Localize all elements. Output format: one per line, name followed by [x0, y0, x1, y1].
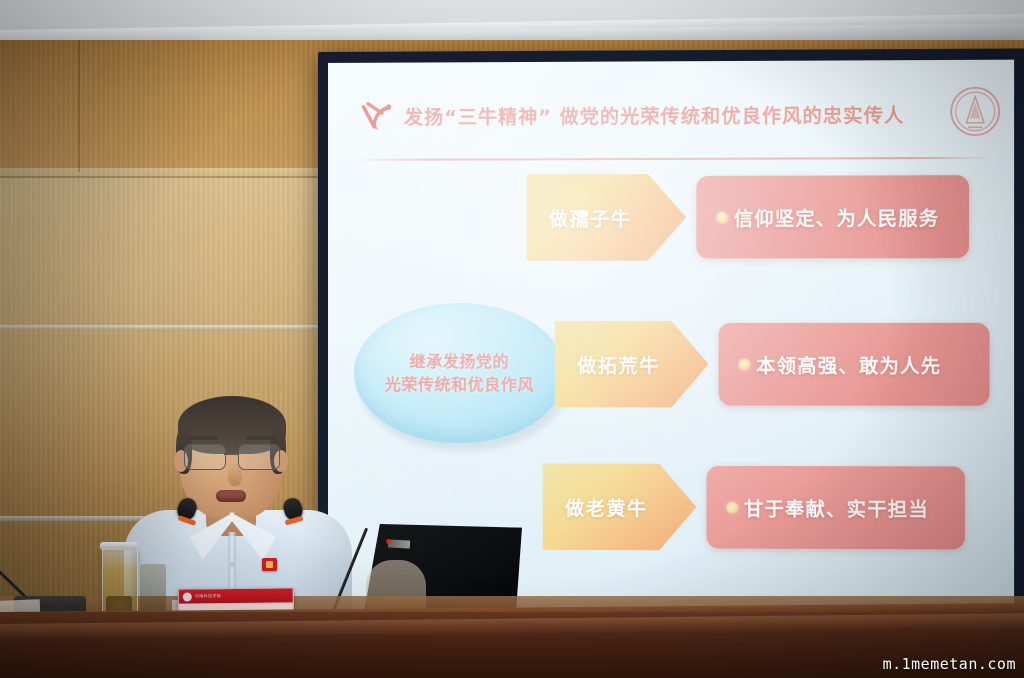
- content-text-3: 甘于奉献、实干担当: [744, 494, 929, 522]
- bullet-dot-icon: [727, 502, 738, 513]
- nameplate-org: 河南科技学院: [195, 593, 221, 599]
- watermark: m.1memetan.com: [883, 655, 1016, 673]
- content-bar-2: 本领高强、敢为人先: [719, 323, 990, 406]
- eyeglass-bridge: [224, 453, 238, 455]
- content-text-1: 信仰坚定、为人民服务: [734, 203, 940, 231]
- photo-scene: 发扬“三牛精神” 做党的光荣传统和优良作风的忠实传人 继承发扬党的 光荣传统和优…: [0, 0, 1024, 678]
- central-concept-ellipse: 继承发扬党的 光荣传统和优良作风: [354, 303, 565, 444]
- arrow-chevron-2: 做拓荒牛: [555, 321, 709, 408]
- content-bar-3: 甘于奉献、实干担当: [706, 466, 965, 549]
- content-bar-1: 信仰坚定、为人民服务: [696, 175, 969, 258]
- slide-row-3: 做老黄牛 甘于奉献、实干担当: [543, 463, 965, 551]
- slide-row-2: 做拓荒牛 本领高强、敢为人先: [555, 321, 990, 408]
- arrow-label-1: 做孺子牛: [549, 204, 632, 231]
- speaker-eyebrow: [188, 436, 218, 440]
- cpc-hammer-sickle-icon: [358, 97, 398, 137]
- slide-row-1: 做孺子牛 信仰坚定、为人民服务: [527, 173, 969, 261]
- ellipse-line-1: 继承发扬党的: [410, 350, 509, 373]
- nameplate-logo-icon: [183, 592, 192, 601]
- slide-title: 发扬“三牛精神” 做党的光荣传统和优良作风的忠实传人: [404, 100, 930, 129]
- arrow-label-2: 做拓荒牛: [577, 351, 660, 378]
- arrow-label-3: 做老黄牛: [565, 493, 648, 520]
- ellipse-line-2: 光荣传统和优良作风: [385, 373, 534, 396]
- nameplate-header: 河南科技学院: [179, 588, 293, 603]
- laptop-logo-dot: [386, 539, 391, 544]
- eyeglass-lens: [238, 444, 280, 470]
- speaker-mouth: [216, 490, 246, 502]
- header-divider: [354, 157, 992, 161]
- university-emblem-icon: [949, 85, 1002, 138]
- arrow-chevron-3: 做老黄牛: [543, 463, 697, 550]
- bullet-dot-icon: [717, 212, 728, 223]
- wall-seam: [78, 40, 80, 172]
- speaker-eyebrow: [246, 436, 276, 440]
- bullet-dot-icon: [739, 359, 750, 370]
- speaker-nose: [228, 464, 242, 486]
- arrow-chevron-1: 做孺子牛: [527, 174, 687, 261]
- laptop-brand-logo: [388, 539, 410, 548]
- content-text-2: 本领高强、敢为人先: [756, 351, 941, 378]
- eyeglass-lens: [184, 444, 226, 470]
- slide-header: 发扬“三牛精神” 做党的光荣传统和优良作风的忠实传人: [328, 80, 1014, 153]
